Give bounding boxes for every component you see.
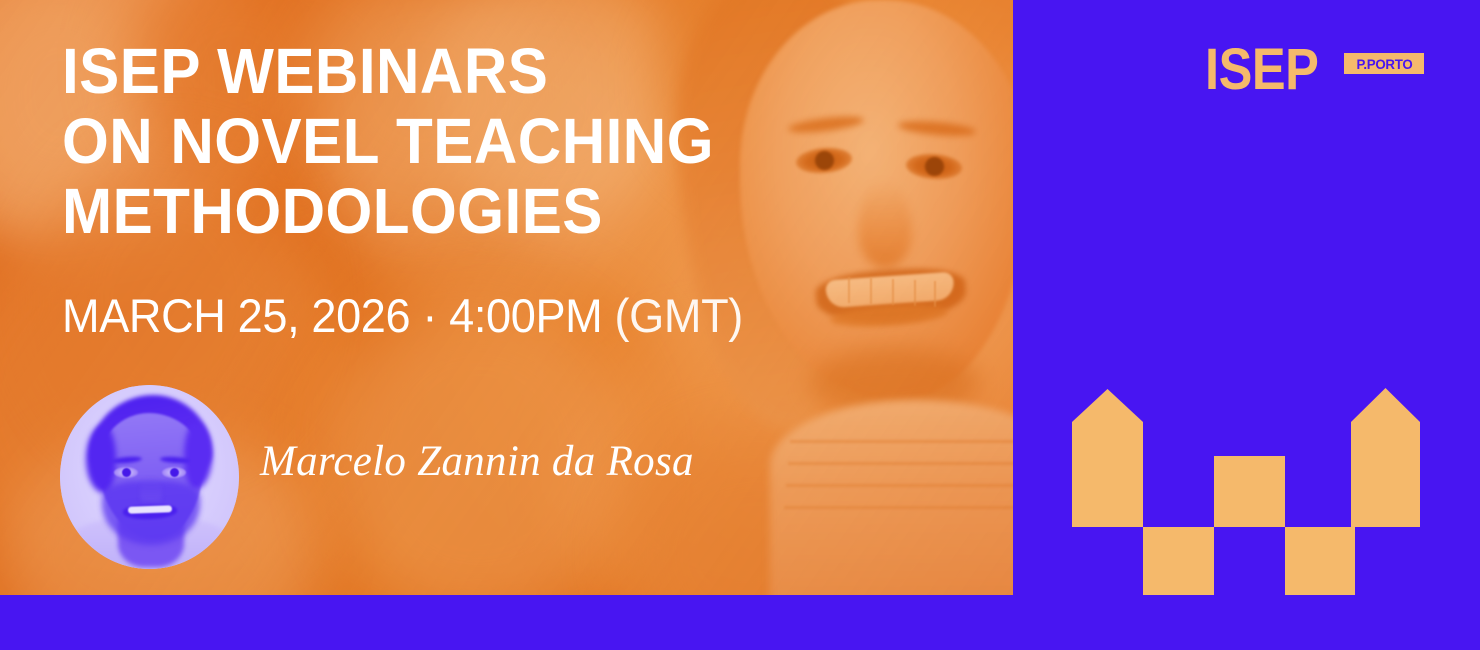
headline-line-3: METHODOLOGIES <box>62 176 842 246</box>
bottom-color-band <box>0 595 1013 650</box>
pattern-square <box>1285 527 1355 595</box>
brand-panel: ISEP P.PORTO <box>1013 0 1480 650</box>
headline-line-2: ON NOVEL TEACHING <box>62 106 842 176</box>
hero-photo-panel: ISEP WEBINARS ON NOVEL TEACHING METHODOL… <box>0 0 1013 595</box>
pattern-house <box>1351 388 1420 527</box>
event-date-time-text: MARCH 25, 2026 · 4:00PM <box>62 289 615 342</box>
geometric-pattern <box>1013 0 1480 650</box>
pattern-square <box>1214 456 1285 527</box>
event-timezone-text: (GMT) <box>615 289 743 342</box>
pattern-square <box>1143 527 1214 595</box>
webinar-banner: ISEP WEBINARS ON NOVEL TEACHING METHODOL… <box>0 0 1480 650</box>
avatar <box>60 385 239 569</box>
event-datetime: MARCH 25, 2026 · 4:00PM (GMT) <box>62 290 743 342</box>
pattern-house <box>1072 389 1143 527</box>
page-title: ISEP WEBINARS ON NOVEL TEACHING METHODOL… <box>62 36 842 246</box>
speaker-name: Marcelo Zannin da Rosa <box>260 437 694 486</box>
headline-line-1: ISEP WEBINARS <box>62 36 842 106</box>
